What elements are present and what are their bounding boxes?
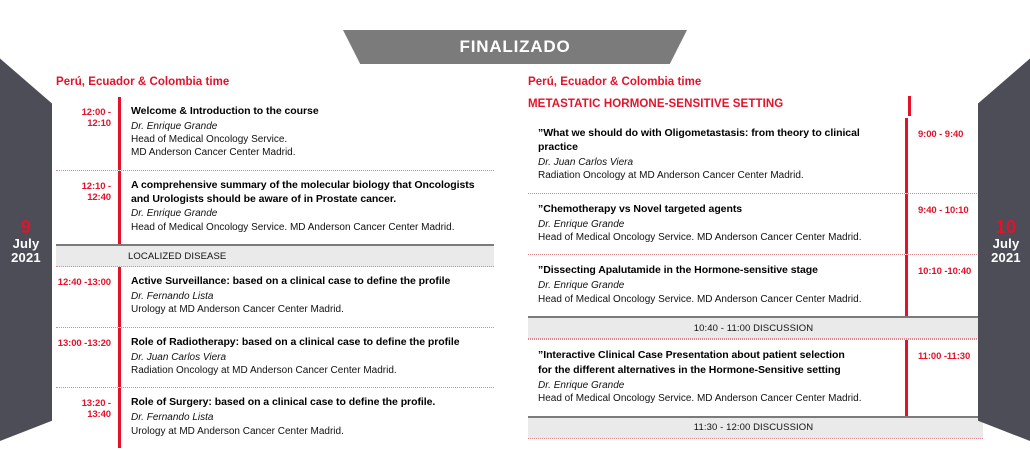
agenda-row-speaker: Dr. Enrique Grande	[538, 279, 895, 292]
agenda-row-title-2: for the different alternatives in the Ho…	[538, 364, 895, 378]
discussion-band-label: 11:30 - 12:00 DISCUSSION	[694, 422, 813, 433]
agenda-row-affiliation: Radiation Oncology at MD Anderson Cancer…	[538, 169, 895, 182]
agenda-row-affiliation: Head of Medical Oncology Service. MD And…	[131, 221, 494, 234]
agenda-row-body: Active Surveillance: based on a clinical…	[121, 267, 494, 327]
date-tab-left-text: 9 July 2021	[0, 218, 52, 266]
agenda-row-body: ”Dissecting Apalutamide in the Hormone-s…	[528, 255, 905, 316]
agenda-row-time: 12:00 - 12:10	[56, 97, 118, 129]
agenda-row-body: ”Interactive Clinical Case Presentation …	[528, 340, 905, 416]
agenda-row-speaker: Dr. Enrique Grande	[538, 379, 895, 392]
agenda-row-speaker: Dr. Enrique Grande	[538, 218, 895, 231]
section-heading-accent-bar	[908, 96, 911, 116]
date-tab-left-day: 9	[0, 218, 52, 237]
agenda-row-title: Welcome & Introduction to the course	[131, 105, 494, 119]
agenda-row-speaker: Dr. Fernando Lista	[131, 411, 494, 424]
section-band-localized-disease: LOCALIZED DISEASE	[56, 244, 494, 267]
agenda-page: 9 July 2021 10 July 2021 FINALIZADO Perú…	[0, 0, 1030, 450]
agenda-row-time: 9:00 - 9:40	[908, 118, 983, 193]
agenda-row[interactable]: ”Dissecting Apalutamide in the Hormone-s…	[528, 254, 983, 316]
agenda-row-speaker: Dr. Juan Carlos Viera	[538, 156, 895, 169]
agenda-row-time: 12:10 - 12:40	[56, 171, 118, 203]
date-tab-left-year: 2021	[0, 251, 52, 265]
agenda-row[interactable]: ”Chemotherapy vs Novel targeted agents D…	[528, 193, 983, 255]
section-heading-metastatic: METASTATIC HORMONE-SENSITIVE SETTING	[528, 98, 983, 111]
day2-agenda-column: Perú, Ecuador & Colombia time METASTATIC…	[528, 76, 983, 439]
agenda-row-title: ”Dissecting Apalutamide in the Hormone-s…	[538, 264, 895, 278]
agenda-row-title: Active Surveillance: based on a clinical…	[131, 275, 494, 289]
agenda-row-affiliation: Head of Medical Oncology Service. MD And…	[538, 392, 895, 405]
agenda-row-speaker: Dr. Enrique Grande	[131, 120, 494, 133]
agenda-row-title: Role of Surgery: based on a clinical cas…	[131, 396, 494, 410]
agenda-row-time: 13:20 - 13:40	[56, 388, 118, 420]
agenda-row-speaker: Dr. Juan Carlos Viera	[131, 351, 494, 364]
date-tab-left-month: July	[0, 237, 52, 251]
date-tab-right-month: July	[982, 237, 1030, 251]
discussion-band-label: 10:40 - 11:00 DISCUSSION	[694, 323, 813, 334]
date-tab-right[interactable]: 10 July 2021	[978, 0, 1030, 450]
agenda-row[interactable]: 12:00 - 12:10 Welcome & Introduction to …	[56, 97, 494, 170]
agenda-row-title: A comprehensive summary of the molecular…	[131, 179, 494, 207]
agenda-row-body: Role of Surgery: based on a clinical cas…	[121, 388, 494, 448]
agenda-row-affiliation: Urology at MD Anderson Cancer Center Mad…	[131, 303, 494, 316]
date-tab-right-year: 2021	[982, 251, 1030, 265]
agenda-row-affiliation: Head of Medical Oncology Service. MD And…	[538, 293, 895, 306]
agenda-row[interactable]: 13:00 -13:20 Role of Radiotherapy: based…	[56, 327, 494, 388]
agenda-row[interactable]: ”What we should do with Oligometastasis:…	[528, 118, 983, 193]
agenda-row-title: ”What we should do with Oligometastasis:…	[538, 127, 895, 155]
discussion-band: 11:30 - 12:00 DISCUSSION	[528, 416, 983, 439]
timezone-heading-right: Perú, Ecuador & Colombia time	[528, 76, 983, 89]
agenda-row-body: Role of Radiotherapy: based on a clinica…	[121, 328, 494, 388]
agenda-row-speaker: Dr. Fernando Lista	[131, 290, 494, 303]
agenda-row-time: 13:00 -13:20	[56, 328, 118, 349]
agenda-row-time: 9:40 - 10:10	[908, 194, 983, 255]
date-tab-right-text: 10 July 2021	[982, 218, 1030, 266]
agenda-row[interactable]: 12:40 -13:00 Active Surveillance: based …	[56, 267, 494, 327]
agenda-row-affiliation: Radiation Oncology at MD Anderson Cancer…	[131, 364, 494, 377]
agenda-row-time: 10:10 -10:40	[908, 255, 983, 316]
discussion-band: 10:40 - 11:00 DISCUSSION	[528, 316, 983, 339]
agenda-row-speaker: Dr. Enrique Grande	[131, 207, 494, 220]
agenda-row-affiliation-2: MD Anderson Cancer Center Madrid.	[131, 146, 494, 159]
agenda-row-title: Role of Radiotherapy: based on a clinica…	[131, 336, 494, 350]
agenda-row-title: ”Chemotherapy vs Novel targeted agents	[538, 203, 895, 217]
agenda-row-body: ”What we should do with Oligometastasis:…	[528, 118, 905, 193]
agenda-row-affiliation: Urology at MD Anderson Cancer Center Mad…	[131, 425, 494, 438]
date-tab-right-day: 10	[982, 218, 1030, 237]
agenda-row-time: 12:40 -13:00	[56, 267, 118, 288]
section-band-label: LOCALIZED DISEASE	[128, 251, 226, 262]
agenda-row-body: Welcome & Introduction to the course Dr.…	[121, 97, 494, 170]
day1-agenda-column: Perú, Ecuador & Colombia time 12:00 - 12…	[56, 76, 494, 448]
date-tab-left[interactable]: 9 July 2021	[0, 0, 52, 450]
agenda-row-affiliation: Head of Medical Oncology Service. MD And…	[538, 231, 895, 244]
agenda-row-body: A comprehensive summary of the molecular…	[121, 171, 494, 245]
agenda-row[interactable]: 13:20 - 13:40 Role of Surgery: based on …	[56, 387, 494, 448]
agenda-row-time: 11:00 -11:30	[908, 340, 983, 416]
agenda-row-affiliation: Head of Medical Oncology Service.	[131, 133, 494, 146]
status-banner: FINALIZADO	[343, 30, 687, 64]
timezone-heading-left: Perú, Ecuador & Colombia time	[56, 76, 494, 89]
agenda-row[interactable]: 12:10 - 12:40 A comprehensive summary of…	[56, 170, 494, 245]
agenda-row[interactable]: ”Interactive Clinical Case Presentation …	[528, 339, 983, 416]
agenda-row-title: ”Interactive Clinical Case Presentation …	[538, 349, 895, 363]
agenda-row-body: ”Chemotherapy vs Novel targeted agents D…	[528, 194, 905, 255]
